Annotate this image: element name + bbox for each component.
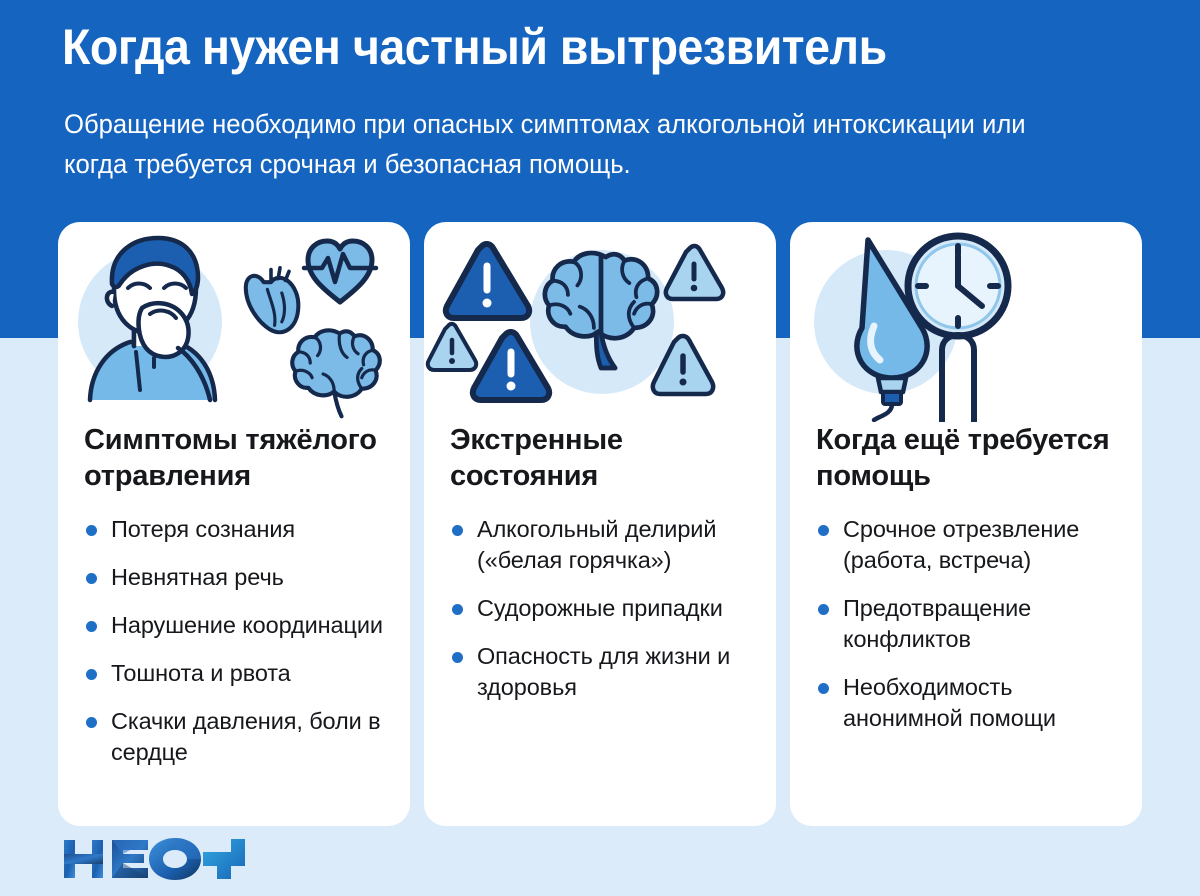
card-heading: Экстренные состояния: [450, 422, 750, 494]
logo-plus-icon: [203, 839, 245, 879]
list-item: Тошнота и рвота: [84, 658, 384, 689]
list-item: Необходимость анонимной помощи: [816, 672, 1116, 734]
card-other-help-cases: Когда ещё требуется помощь Срочное отрез…: [790, 222, 1142, 826]
card-severe-poisoning-symptoms: Симптомы тяжёлого отравления Потеря созн…: [58, 222, 410, 826]
other-cases-list: Срочное отрезвление (работа, встреча) Пр…: [816, 514, 1116, 734]
list-item: Потеря сознания: [84, 514, 384, 545]
warning-triangle-icon: [428, 324, 476, 370]
anatomical-heart-icon: [246, 268, 299, 332]
card-heading: Когда ещё требуется помощь: [816, 422, 1116, 494]
list-item: Судорожные припадки: [450, 593, 750, 624]
list-item: Алкогольный делирий («белая горячка»): [450, 514, 750, 576]
warning-triangle-icon: [446, 244, 529, 318]
warning-triangle-icon: [666, 246, 723, 299]
symptom-list: Потеря сознания Невнятная речь Нарушение…: [84, 514, 384, 768]
list-item: Опасность для жизни и здоровья: [450, 641, 750, 703]
page-title: Когда нужен частный вытрезвитель: [62, 18, 1076, 76]
cards-container: Симптомы тяжёлого отравления Потеря созн…: [0, 222, 1200, 826]
clock-icon: [908, 236, 1008, 336]
brand-logo: [62, 836, 252, 882]
logo-letter-e: [112, 840, 148, 878]
logo-letter-n: [64, 840, 103, 878]
brain-icon: [292, 330, 380, 416]
sick-man-heart-brain-illustration: [58, 222, 410, 422]
list-item: Невнятная речь: [84, 562, 384, 593]
card-body: Экстренные состояния Алкогольный делирий…: [424, 422, 776, 703]
card-emergency-conditions: Экстренные состояния Алкогольный делирий…: [424, 222, 776, 826]
heart-pulse-icon: [304, 241, 376, 302]
card-body: Когда ещё требуется помощь Срочное отрез…: [790, 422, 1142, 734]
list-item: Срочное отрезвление (работа, встреча): [816, 514, 1116, 576]
page-subtitle: Обращение необходимо при опасных симптом…: [64, 104, 1062, 184]
list-item: Нарушение координации: [84, 610, 384, 641]
emergency-list: Алкогольный делирий («белая горячка») Су…: [450, 514, 750, 703]
list-item: Предотвращение конфликтов: [816, 593, 1116, 655]
card-body: Симптомы тяжёлого отравления Потеря созн…: [58, 422, 410, 768]
list-item: Скачки давления, боли в сердце: [84, 706, 384, 768]
logo-letter-o: [149, 838, 201, 880]
iv-drip-clock-illustration: [790, 222, 1142, 422]
card-heading: Симптомы тяжёлого отравления: [84, 422, 384, 494]
brain-warning-triangles-illustration: [424, 222, 776, 422]
